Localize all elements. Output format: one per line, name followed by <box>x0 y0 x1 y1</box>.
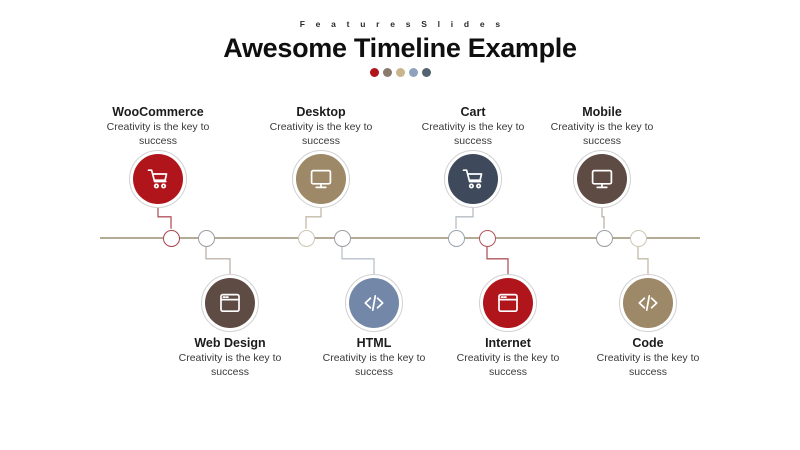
connector-web-design <box>206 247 230 274</box>
dot-red <box>370 68 379 77</box>
node-text-woocommerce: WooCommerceCreativity is the key to succ… <box>68 104 248 148</box>
connector-mobile <box>602 208 604 229</box>
connector-desktop <box>306 208 321 229</box>
node-icon-badge-internet[interactable] <box>483 278 533 328</box>
code-icon <box>635 290 661 316</box>
node-description-woocommerce: Creativity is the key to success <box>93 121 223 148</box>
connector-internet <box>487 247 508 274</box>
node-heading-code: Code <box>558 335 738 351</box>
node-description-internet: Creativity is the key to success <box>443 352 573 379</box>
desktop-monitor-icon <box>589 166 615 192</box>
shopping-cart-icon <box>460 166 486 192</box>
timeline-node-code[interactable]: CodeCreativity is the key to success <box>558 278 738 379</box>
marker-mobile[interactable] <box>596 230 613 247</box>
node-text-code: CodeCreativity is the key to success <box>558 335 738 379</box>
marker-cart[interactable] <box>448 230 465 247</box>
shopping-cart-icon <box>145 166 171 192</box>
marker-html[interactable] <box>334 230 351 247</box>
connector-woocommerce <box>158 208 171 229</box>
node-description-web-design: Creativity is the key to success <box>165 352 295 379</box>
node-description-code: Creativity is the key to success <box>583 352 713 379</box>
node-description-mobile: Creativity is the key to success <box>537 121 667 148</box>
node-icon-badge-woocommerce[interactable] <box>133 154 183 204</box>
node-heading-woocommerce: WooCommerce <box>68 104 248 120</box>
node-heading-mobile: Mobile <box>512 104 692 120</box>
dot-slate <box>422 68 431 77</box>
browser-window-icon <box>495 290 521 316</box>
node-icon-badge-code[interactable] <box>623 278 673 328</box>
marker-internet[interactable] <box>479 230 496 247</box>
browser-window-icon <box>217 290 243 316</box>
node-icon-badge-html[interactable] <box>349 278 399 328</box>
timeline-node-woocommerce[interactable]: WooCommerceCreativity is the key to succ… <box>68 104 248 204</box>
connector-html <box>342 247 374 274</box>
node-text-mobile: MobileCreativity is the key to success <box>512 104 692 148</box>
dot-tan <box>396 68 405 77</box>
slide-header: F e a t u r e s S l i d e s Awesome Time… <box>0 18 800 77</box>
marker-web-design[interactable] <box>198 230 215 247</box>
page-title: Awesome Timeline Example <box>0 32 800 64</box>
eyebrow-label: F e a t u r e s S l i d e s <box>0 18 800 30</box>
node-icon-badge-cart[interactable] <box>448 154 498 204</box>
node-icon-badge-web-design[interactable] <box>205 278 255 328</box>
marker-desktop[interactable] <box>298 230 315 247</box>
node-description-desktop: Creativity is the key to success <box>256 121 386 148</box>
connector-cart <box>456 208 473 229</box>
timeline-node-mobile[interactable]: MobileCreativity is the key to success <box>512 104 692 204</box>
node-icon-badge-desktop[interactable] <box>296 154 346 204</box>
connector-code <box>638 247 648 274</box>
slide-canvas: F e a t u r e s S l i d e s Awesome Time… <box>0 0 800 450</box>
node-icon-badge-mobile[interactable] <box>577 154 627 204</box>
marker-code[interactable] <box>630 230 647 247</box>
desktop-monitor-icon <box>308 166 334 192</box>
dot-brown <box>383 68 392 77</box>
code-icon <box>361 290 387 316</box>
dot-blue <box>409 68 418 77</box>
header-dot-row <box>0 68 800 77</box>
marker-woocommerce[interactable] <box>163 230 180 247</box>
